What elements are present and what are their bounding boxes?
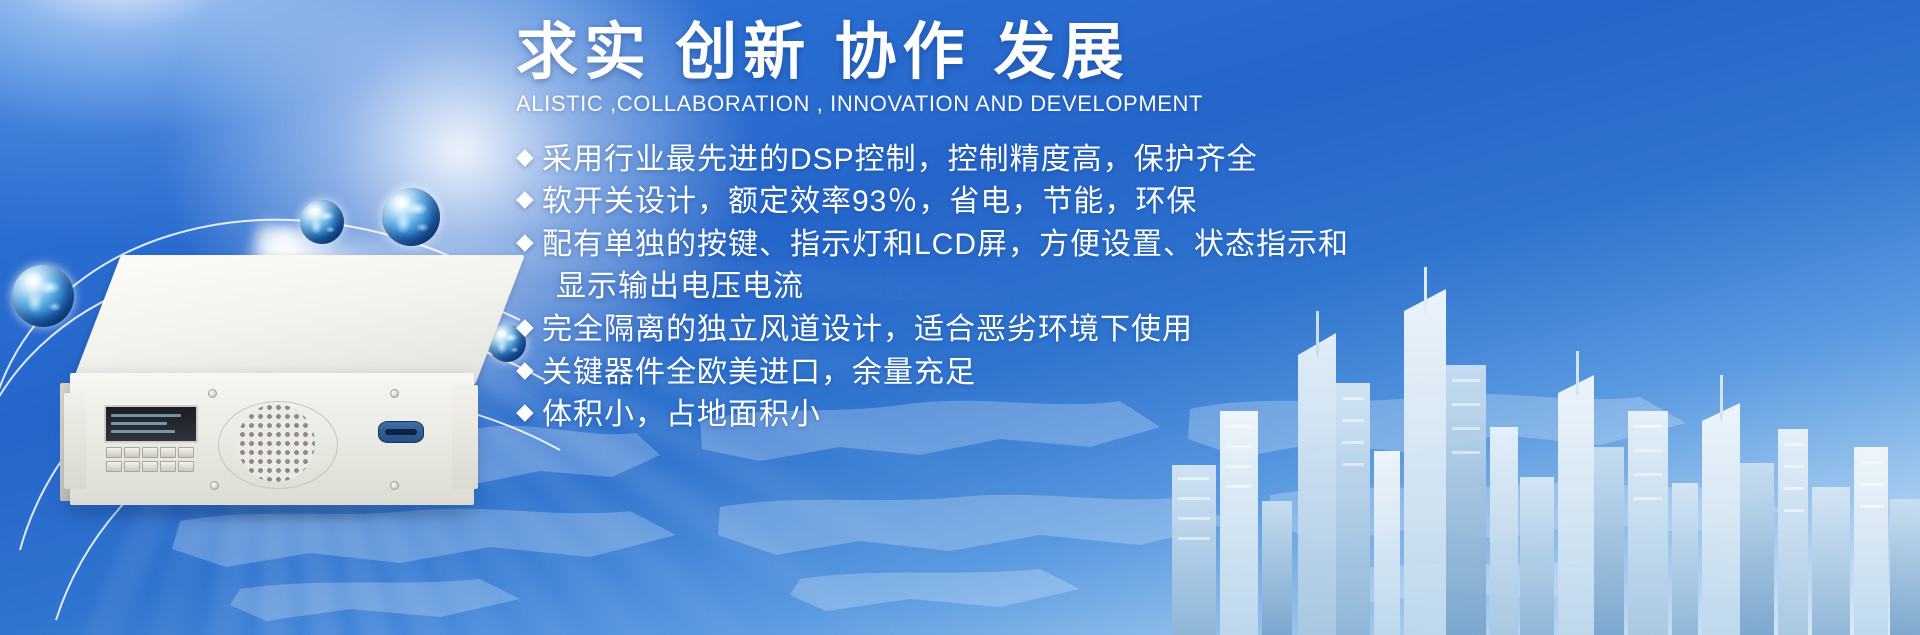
diamond-bullet-icon: ◆ (516, 224, 542, 260)
globe-upper-mid (300, 200, 344, 244)
screw (390, 481, 399, 490)
feature-item: ◆软开关设计，额定效率93％，省电，节能，环保 (516, 181, 1846, 224)
feature-list: ◆采用行业最先进的DSP控制，控制精度高，保护齐全◆软开关设计，额定效率93％，… (516, 139, 1846, 437)
device-rack-ear-left (64, 393, 86, 489)
diamond-bullet-icon: ◆ (516, 181, 542, 217)
rack-mount-power-supply (60, 255, 520, 520)
db9-serial-port (378, 421, 424, 443)
feature-item: ◆体积小，占地面积小 (516, 394, 1846, 437)
headline: 求实 创新 协作 发展 (516, 18, 1846, 89)
screw (390, 389, 399, 398)
feature-item: ◆采用行业最先进的DSP控制，控制精度高，保护齐全 (516, 139, 1846, 182)
globe-upper-right (382, 188, 440, 246)
feature-text: 完全隔离的独立风道设计，适合恶劣环境下使用 (542, 309, 1193, 352)
diamond-bullet-icon: ◆ (516, 309, 542, 345)
screw (208, 389, 217, 398)
lcd-display (104, 405, 198, 443)
feature-text: 关键器件全欧美进口，余量充足 (542, 352, 976, 395)
keypad (106, 447, 192, 477)
feature-item: ◆配有单独的按键、指示灯和LCD屏，方便设置、状态指示和 (516, 224, 1846, 267)
feature-text: 显示输出电压电流 (542, 266, 804, 309)
feature-item: ◆关键器件全欧美进口，余量充足 (516, 352, 1846, 395)
banner-copy: 求实 创新 协作 发展 ALISTIC ,COLLABORATION , INN… (516, 18, 1846, 437)
feature-text: 采用行业最先进的DSP控制，控制精度高，保护齐全 (542, 139, 1258, 182)
feature-text: 配有单独的按键、指示灯和LCD屏，方便设置、状态指示和 (542, 224, 1349, 267)
feature-text: 软开关设计，额定效率93％，省电，节能，环保 (542, 181, 1197, 224)
screw (210, 481, 219, 490)
product-banner: 求实 创新 协作 发展 ALISTIC ,COLLABORATION , INN… (0, 0, 1920, 635)
diamond-bullet-icon: ◆ (516, 352, 542, 388)
feature-item: ◆完全隔离的独立风道设计，适合恶劣环境下使用 (516, 309, 1846, 352)
feature-text: 体积小，占地面积小 (542, 394, 821, 437)
subheadline: ALISTIC ,COLLABORATION , INNOVATION AND … (516, 91, 1846, 117)
fan-vent (220, 403, 332, 483)
diamond-bullet-icon: ◆ (516, 394, 542, 430)
diamond-bullet-icon: ◆ (516, 139, 542, 175)
feature-item: ◆显示输出电压电流 (516, 266, 1846, 309)
device-top-panel (71, 255, 525, 385)
device-rack-ear-right (452, 385, 478, 489)
